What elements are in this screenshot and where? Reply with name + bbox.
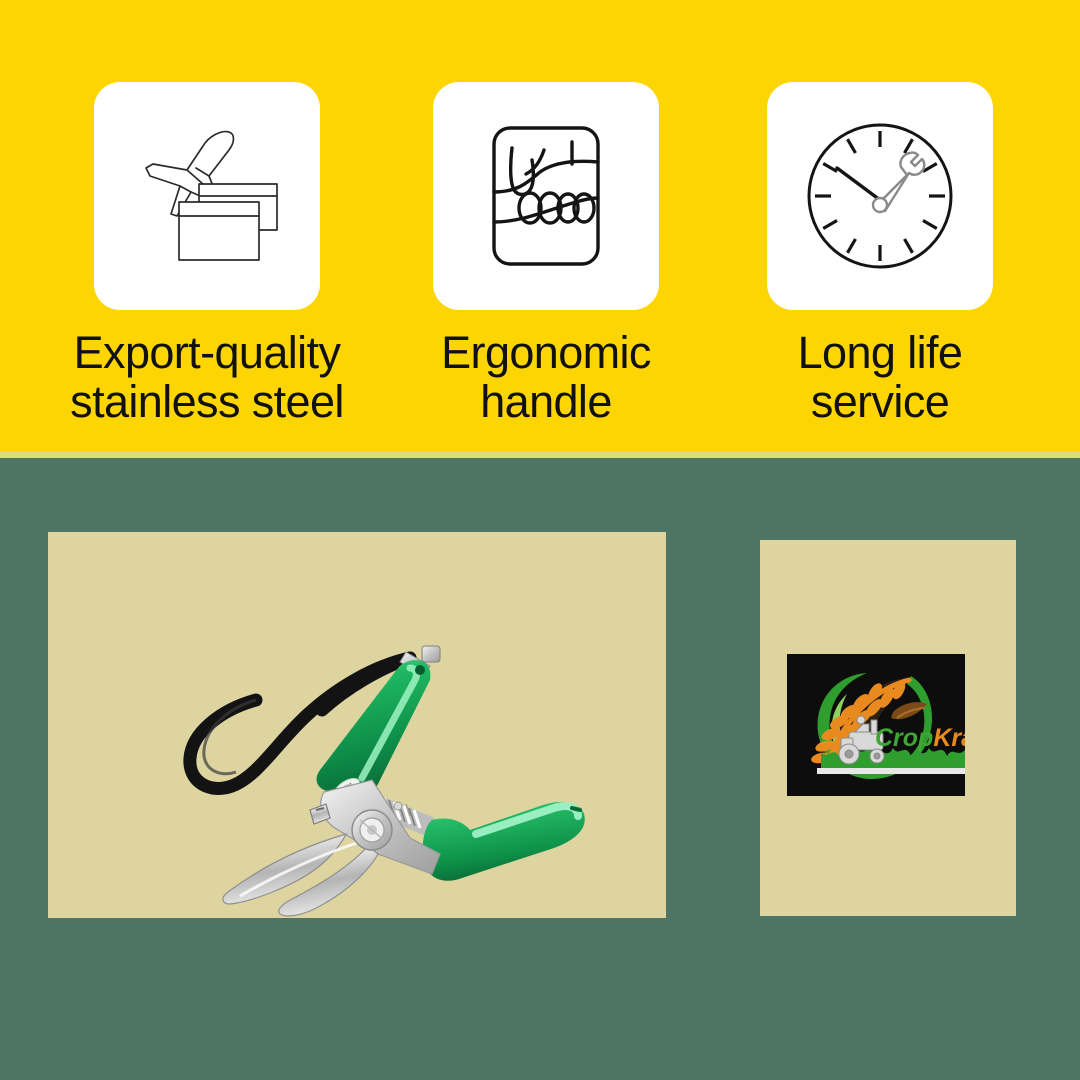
icon-card-1 (94, 82, 320, 310)
clock-wrench-icon (789, 105, 971, 287)
feature-long-life-service: Long life service (735, 0, 1025, 452)
icon-card-3 (767, 82, 993, 310)
hand-grip-handle-icon (456, 106, 636, 286)
feature-row: Export-quality stainless steel (0, 0, 1080, 452)
brand-name-part-1: Crop (875, 724, 933, 752)
brand-logo: CropKraft (787, 654, 965, 796)
brand-name-part-2: Kraft (933, 724, 965, 752)
feature-label-3: Long life service (798, 328, 963, 426)
pivot-bolt (352, 810, 392, 850)
pruning-shears-photo (110, 548, 620, 918)
stainless-steel-blade (223, 780, 440, 916)
feature-export-quality: Export-quality stainless steel (62, 0, 352, 452)
feature-ergonomic-handle: Ergonomic handle (401, 0, 691, 452)
product-feature-banner: Export-quality stainless steel (0, 0, 1080, 1080)
svg-text:CropKraft: CropKraft (875, 724, 965, 752)
airplane-parcel-icon (117, 106, 297, 286)
feature-label-1: Export-quality stainless steel (70, 328, 344, 426)
feature-label-2: Ergonomic handle (441, 328, 651, 426)
icon-card-2 (433, 82, 659, 310)
